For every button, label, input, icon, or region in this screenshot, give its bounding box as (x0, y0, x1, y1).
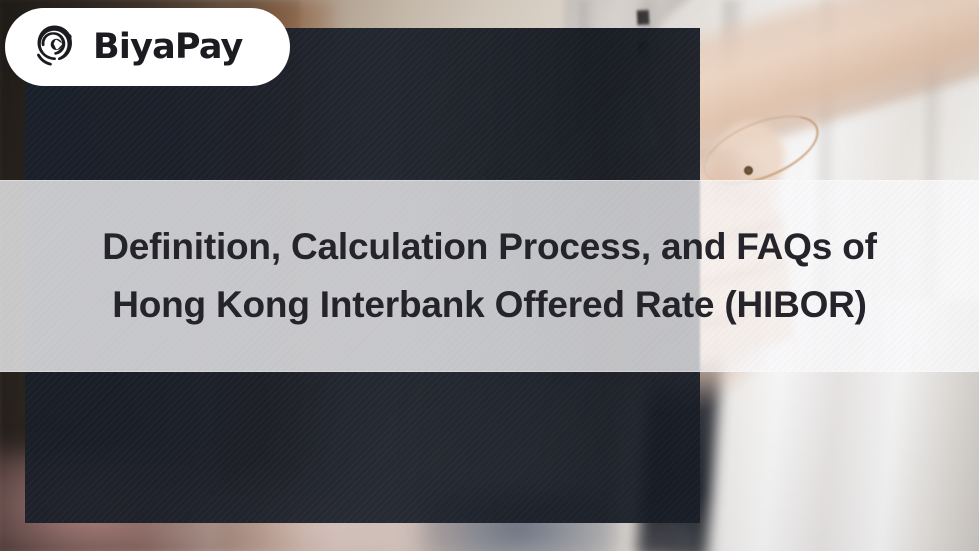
biyapay-whale-mark-icon (27, 20, 81, 74)
hero-banner: Definition, Calculation Process, and FAQ… (0, 0, 979, 551)
brand-wordmark: BiyaPay (93, 27, 243, 67)
brand-logo[interactable]: BiyaPay (5, 8, 290, 86)
hero-title-line-2: Hong Kong Interbank Offered Rate (HIBOR) (112, 276, 867, 334)
hero-title: Definition, Calculation Process, and FAQ… (0, 180, 979, 372)
hero-title-line-1: Definition, Calculation Process, and FAQ… (102, 218, 877, 276)
